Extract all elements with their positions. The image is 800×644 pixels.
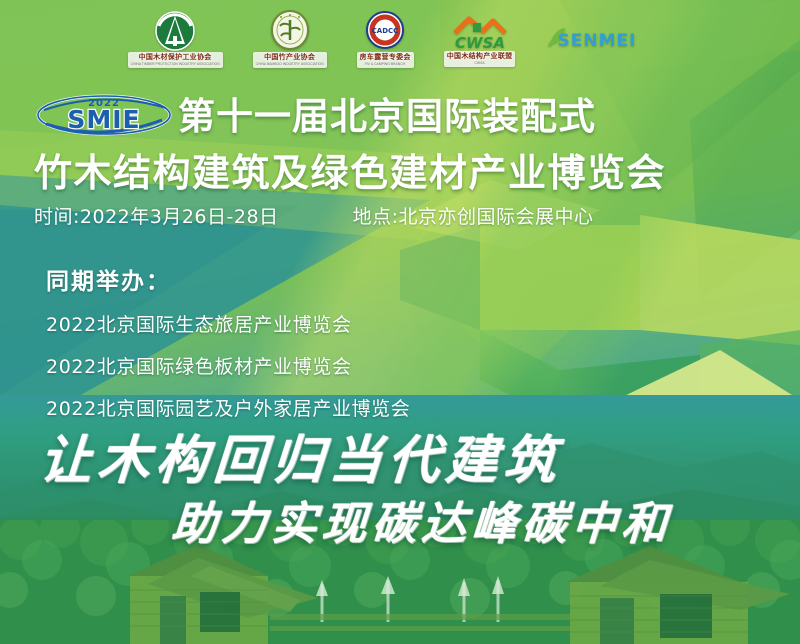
senmei-wordmark: SENMEI	[558, 31, 637, 51]
expo-poster: 中国木材保护工业协会 CHINA TIMBER PROTECTION INDUS…	[0, 0, 800, 644]
svg-text:CADCC: CADCC	[372, 27, 399, 35]
slogan-line-2: 助力实现碳达峰碳中和	[170, 487, 675, 552]
logo-caption-en: CHINA TIMBER PROTECTION INDUSTRY ASSOCIA…	[131, 62, 220, 67]
logo-cwsa[interactable]: CWSA 中国木结构产业联盟 CWSA	[444, 11, 516, 67]
event-date: 时间:2022年3月26日-28日	[34, 202, 279, 229]
title-block: 2022 SMIE 第十一届北京国际装配式 竹木结构建筑及绿色建材产业博览会	[0, 88, 800, 197]
logo-bamboo-industry-association[interactable]: 中国竹产业协会 CHINA BAMBOO INDUSTRY ASSOCIATIO…	[253, 10, 327, 68]
concurrent-event-3: 2022北京国际园艺及户外家居产业博览会	[46, 394, 646, 421]
logo-caption-en: CHINA BAMBOO INDUSTRY ASSOCIATION	[256, 62, 324, 67]
leaf-senmei-icon: SENMEI	[545, 24, 637, 54]
concurrent-event-2: 2022北京国际绿色板材产业博览会	[46, 352, 646, 379]
title-line-2: 竹木结构建筑及绿色建材产业博览会	[0, 142, 800, 197]
event-venue: 地点:北京亦创国际会展中心	[353, 202, 594, 229]
title-line-1: 第十一届北京国际装配式	[178, 86, 596, 140]
smie-logo[interactable]: 2022 SMIE	[34, 90, 174, 136]
concurrent-events-heading: 同期举办：	[46, 262, 646, 296]
logo-caption-en: CWSA	[474, 61, 484, 66]
smie-acronym: SMIE	[67, 105, 140, 134]
pine-tree-in-circle-icon	[151, 10, 199, 54]
logo-caption-cn: 房车露营专委会	[360, 54, 411, 61]
concurrent-event-1: 2022北京国际生态旅居产业博览会	[46, 310, 646, 337]
house-roof-cwsa-icon: CWSA	[449, 11, 511, 53]
logo-rv-camping-committee[interactable]: CADCC 房车露营专委会 RV & CAMPING BRANCH	[357, 10, 414, 68]
logo-caption-en: RV & CAMPING BRANCH	[365, 62, 405, 67]
logo-senmei[interactable]: SENMEI	[545, 24, 637, 54]
cabin-right	[566, 546, 790, 644]
logo-caption-cn: 中国竹产业协会	[264, 54, 315, 61]
event-meta: 时间:2022年3月26日-28日 地点:北京亦创国际会展中心	[34, 202, 774, 229]
wooden-cabins	[0, 540, 800, 644]
logo-caption-cn: 中国木材保护工业协会	[139, 54, 212, 61]
cadcc-seal-icon: CADCC	[362, 10, 408, 54]
logo-caption-cn: 中国木结构产业联盟	[447, 53, 513, 60]
concurrent-events-block: 同期举办： 2022北京国际生态旅居产业博览会 2022北京国际绿色板材产业博览…	[46, 262, 646, 436]
svg-text:CWSA: CWSA	[455, 34, 505, 52]
organizer-logo-strip: 中国木材保护工业协会 CHINA TIMBER PROTECTION INDUS…	[0, 0, 800, 78]
bamboo-oval-seal-icon	[267, 10, 313, 54]
slogan-line-1: 让木构回归当代建筑	[37, 418, 564, 493]
logo-china-timber-protection-industry-association[interactable]: 中国木材保护工业协会 CHINA TIMBER PROTECTION INDUS…	[128, 10, 223, 68]
